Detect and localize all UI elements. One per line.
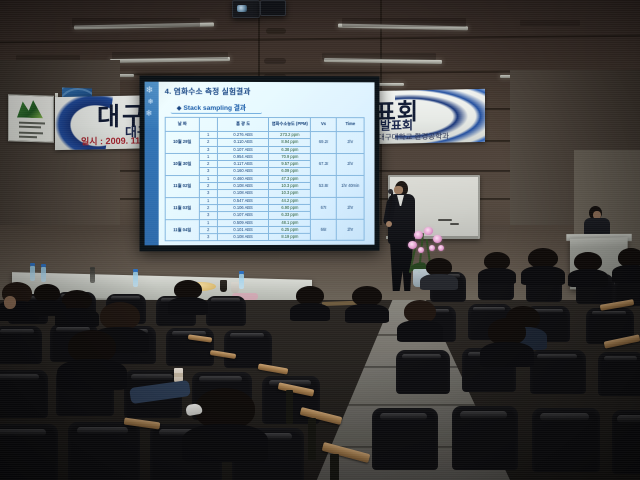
audience-member (352, 286, 382, 318)
audience-member (195, 388, 255, 452)
ceiling-vent (112, 52, 228, 59)
orchid-flower (424, 227, 433, 235)
auditorium-seat (372, 408, 438, 470)
banner-organization: 대구대학교 환경공학과 (378, 131, 449, 143)
wall-poster-green (8, 94, 54, 143)
projector-lens (237, 5, 247, 12)
armrest-post (286, 390, 293, 424)
cell-sample-no: 2 (199, 183, 217, 190)
cell-sample-no: 2 (199, 205, 217, 212)
ceiling-speaker (264, 58, 286, 64)
header-date: 날 짜 (165, 117, 199, 131)
table-header-row: 날 짜 흡 광 도 염화수소농도 (PPM) Vs Time (165, 117, 364, 131)
slide-side-strip: ❄ ❄ ❄ (145, 82, 159, 246)
slide-bullet: ◆Stack sampling 결과 (171, 101, 262, 114)
audience-member (174, 280, 202, 310)
cell-absorbance: 0.108 ABS (217, 183, 269, 190)
auditorium-photo: 대구대 대구 발표회 발표회 일시 : 2009. 11. 20 대구대학교 환… (0, 0, 640, 480)
audience-member (574, 252, 602, 282)
cell-sample-no: 1 (199, 153, 217, 160)
bullet-marker-icon: ◆ (177, 106, 182, 112)
orchid-flower (429, 245, 435, 251)
cell-absorbance: 0.509 ABS (217, 219, 269, 226)
ceiling-projector-mount (260, 0, 286, 16)
table-row: 10월 30일10.954 ABS70.9 ppm67.3ℓ2hr (165, 153, 364, 160)
orchid-flower (433, 235, 442, 243)
paper-cup (231, 282, 239, 293)
cell-concentration: 8.19 ppm (269, 234, 311, 241)
table-row: 11월 02일10.460 ABS47.3 ppm53.8ℓ1hr 40min (165, 175, 364, 182)
cell-concentration: 44.2 ppm (269, 197, 311, 204)
cell-concentration: 6.09 ppm (269, 168, 311, 175)
projection-screen: ❄ ❄ ❄ 4. 염화수소 측정 실험결과 ◆Stack sampling 결과… (140, 76, 380, 252)
cell-sample-no: 3 (199, 234, 217, 241)
water-bottle (41, 267, 46, 282)
cell-date: 11월 04일 (165, 219, 199, 241)
cell-sample-no: 1 (199, 175, 217, 182)
snowflake-icon: ❄ (146, 109, 153, 118)
cell-absorbance: 0.276 ABS (217, 131, 269, 138)
cell-concentration: 6.33 ppm (269, 212, 311, 219)
water-bottle (239, 274, 244, 289)
auditorium-seat (224, 330, 272, 368)
cell-concentration: 70.9 ppm (269, 153, 311, 160)
cell-concentration: 9.57 ppm (269, 161, 311, 168)
cell-date: 10월 29일 (165, 131, 199, 153)
cell-sample-no: 3 (199, 190, 217, 197)
cell-concentration: 48.1 ppm (269, 219, 311, 226)
cell-vs: 53.8ℓ (311, 175, 337, 197)
cell-concentration: 47.3 ppm (269, 175, 311, 182)
audience-member (484, 252, 510, 280)
audience-member (528, 248, 558, 280)
header-concentration: 염화수소농도 (PPM) (269, 118, 311, 132)
ceiling-speaker (266, 28, 286, 34)
orchid-flower (414, 231, 423, 239)
table-row: 10월 29일10.276 ABS273.2 ppm69.2ℓ2hr (165, 131, 364, 138)
audience-member (618, 248, 640, 278)
cell-sample-no: 2 (199, 226, 217, 233)
ceiling-vent (322, 53, 436, 60)
cell-sample-no: 2 (199, 139, 217, 146)
cell-sample-no: 1 (199, 197, 217, 204)
orchid-flower (408, 241, 417, 249)
cell-absorbance: 0.107 ABS (217, 146, 269, 153)
cell-time: 2hr (336, 219, 364, 241)
audience-member (426, 258, 452, 286)
auditorium-seat (530, 350, 586, 394)
poster-graphic (17, 100, 43, 119)
header-absorbance: 흡 광 도 (217, 117, 269, 131)
auditorium-seat (612, 410, 640, 474)
audience-member (488, 318, 526, 360)
cell-time: 2hr (336, 197, 364, 219)
auditorium-seat (0, 326, 42, 364)
auditorium-seat (396, 350, 450, 394)
armrest-post (308, 418, 316, 460)
auditorium-seat (68, 422, 140, 480)
auditorium-seat (598, 352, 640, 396)
cell-absorbance: 0.460 ABS (217, 175, 269, 182)
drink-cup (220, 280, 227, 292)
cell-concentration: 6.38 ppm (269, 146, 311, 153)
auditorium-seat (0, 370, 48, 418)
cell-absorbance: 0.106 ABS (217, 204, 269, 211)
cell-absorbance: 0.160 ABS (217, 168, 269, 175)
cell-date: 11월 02일 (165, 175, 199, 197)
ceiling-vent (520, 20, 580, 26)
cell-time: 2hr (336, 153, 364, 175)
audience-member (296, 286, 324, 316)
orchid-flower (438, 245, 444, 251)
snowflake-icon: ❄ (146, 86, 154, 95)
cell-sample-no: 3 (199, 146, 217, 153)
ceiling-projector (232, 0, 260, 18)
cell-absorbance: 0.108 ABS (217, 190, 269, 197)
orchid-flower (418, 247, 424, 253)
audience-member (62, 290, 92, 322)
cell-vs: 67ℓ (311, 197, 337, 219)
results-table: 날 짜 흡 광 도 염화수소농도 (PPM) Vs Time 10월 29일10… (165, 117, 365, 242)
cell-absorbance: 0.108 ABS (217, 234, 269, 241)
audience-face (4, 296, 16, 309)
cell-absorbance: 0.107 ABS (217, 212, 269, 219)
cell-concentration: 10.3 ppm (269, 183, 311, 190)
header-no (199, 117, 217, 131)
water-bottle (90, 270, 95, 283)
ceiling-vent (72, 18, 200, 27)
cell-concentration: 273.2 ppm (269, 132, 311, 139)
cell-date: 10월 30일 (165, 153, 199, 175)
cell-absorbance: 0.954 ABS (217, 153, 269, 160)
water-bottle (30, 266, 35, 281)
cell-date: 11월 03일 (165, 197, 199, 219)
presenter-face (394, 186, 403, 194)
cell-concentration: 8.94 ppm (269, 139, 311, 146)
cell-sample-no: 2 (199, 161, 217, 168)
armrest-post (330, 454, 339, 480)
cell-absorbance: 0.101 ABS (217, 226, 269, 233)
auditorium-seat (532, 408, 600, 472)
slide-bullet-text: Stack sampling 결과 (183, 105, 246, 112)
cell-concentration: 6.90 ppm (269, 204, 311, 211)
ceiling-vent (342, 18, 466, 27)
slide-title: 4. 염화수소 측정 실험결과 (165, 86, 251, 97)
cell-vs: 69.2ℓ (311, 132, 337, 154)
cell-sample-no: 1 (199, 219, 217, 226)
audience-member (34, 284, 60, 312)
cell-vs: 67.3ℓ (311, 153, 337, 175)
header-vs: Vs (311, 118, 337, 132)
cell-absorbance: 0.117 ABS (217, 161, 269, 168)
auditorium-seat (206, 296, 246, 326)
snowflake-icon: ❄ (148, 98, 154, 107)
cell-time: 1hr 40min (336, 175, 364, 197)
auditorium-seat (452, 406, 518, 470)
microphone-head-icon (388, 189, 393, 194)
cell-concentration: 6.25 ppm (269, 226, 311, 233)
cell-sample-no: 3 (199, 168, 217, 175)
cell-vs: 66ℓ (311, 219, 337, 241)
cell-time: 2hr (336, 132, 364, 154)
cell-sample-no: 1 (199, 131, 217, 138)
cell-absorbance: 0.110 ABS (217, 139, 269, 146)
cell-absorbance: 0.547 ABS (217, 197, 269, 204)
presentation-slide: ❄ ❄ ❄ 4. 염화수소 측정 실험결과 ◆Stack sampling 결과… (145, 82, 375, 246)
header-time: Time (336, 118, 364, 132)
cell-sample-no: 3 (199, 212, 217, 219)
cell-concentration: 10.3 ppm (269, 190, 311, 197)
audience-member (68, 330, 116, 382)
auditorium-seat (0, 424, 58, 480)
water-bottle (133, 272, 138, 287)
presenter-hand (386, 221, 392, 227)
audience-member (404, 300, 436, 336)
